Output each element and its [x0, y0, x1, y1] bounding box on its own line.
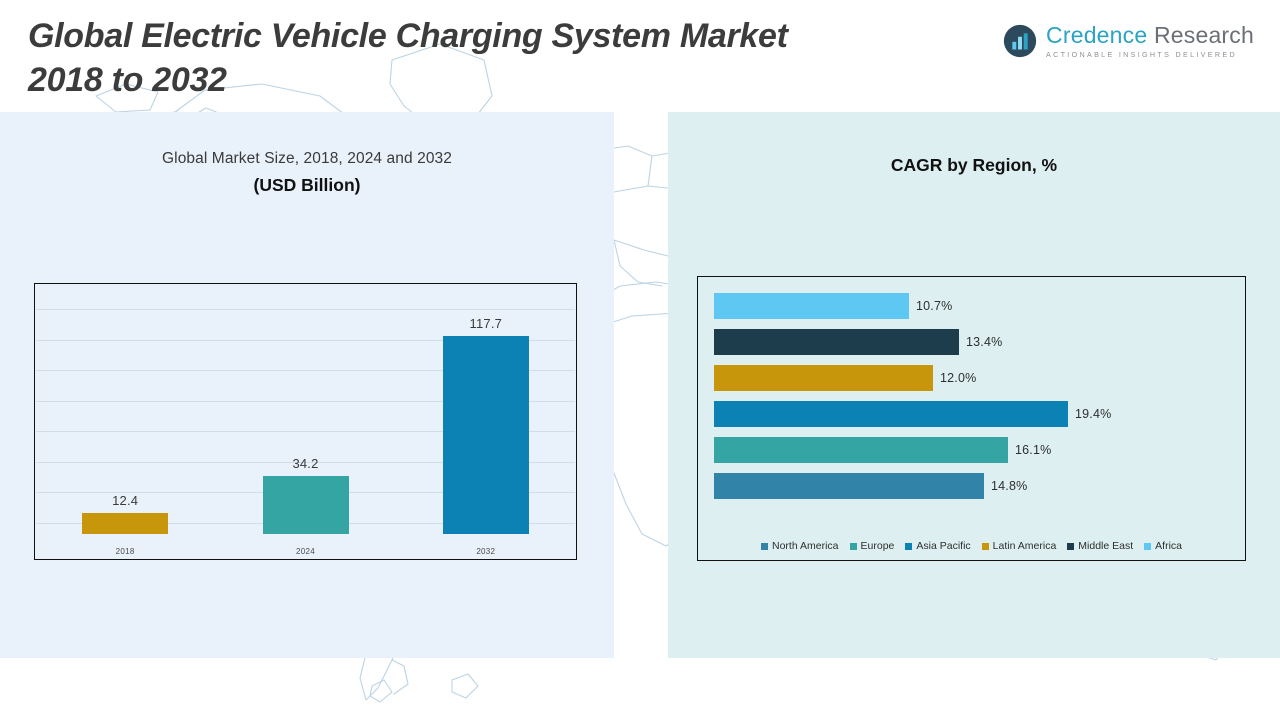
- legend-label: Latin America: [993, 540, 1057, 552]
- column-category-label: 2032: [396, 547, 576, 556]
- hbar: [714, 401, 1068, 427]
- hbar-row: 14.8%: [714, 473, 1027, 499]
- bar-chart-circle-icon: [1003, 24, 1037, 58]
- legend-label: Africa: [1155, 540, 1182, 552]
- column-category-label: 2018: [35, 547, 215, 556]
- legend-swatch-icon: [850, 543, 857, 550]
- hbar-value-label: 19.4%: [1075, 407, 1111, 421]
- legend-item[interactable]: Europe: [850, 540, 895, 552]
- legend-label: North America: [772, 540, 839, 552]
- logo-name: Credence Research: [1046, 24, 1254, 47]
- cagr-by-region-chart: 10.7%13.4%12.0%19.4%16.1%14.8% North Ame…: [697, 276, 1246, 561]
- legend-swatch-icon: [1067, 543, 1074, 550]
- logo-tagline: Actionable Insights Delivered: [1046, 51, 1254, 58]
- hbar: [714, 293, 909, 319]
- brand-logo[interactable]: Credence Research Actionable Insights De…: [1003, 24, 1254, 58]
- column-bar: [443, 336, 529, 534]
- legend-swatch-icon: [905, 543, 912, 550]
- page-title: Global Electric Vehicle Charging System …: [28, 14, 1028, 102]
- hbar-row: 19.4%: [714, 401, 1111, 427]
- hbar-row: 12.0%: [714, 365, 976, 391]
- legend-label: Europe: [861, 540, 895, 552]
- logo-name-research: Research: [1154, 22, 1254, 48]
- column-value-label: 34.2: [292, 456, 318, 471]
- legend-item[interactable]: Asia Pacific: [905, 540, 970, 552]
- hbar-value-label: 10.7%: [916, 299, 952, 313]
- legend-swatch-icon: [1144, 543, 1151, 550]
- hbar-value-label: 14.8%: [991, 479, 1027, 493]
- left-chart-subtitle: (USD Billion): [0, 175, 614, 196]
- hbar: [714, 329, 959, 355]
- infographic-root: Global Electric Vehicle Charging System …: [0, 0, 1280, 720]
- column-category-label: 2024: [215, 547, 395, 556]
- legend-item[interactable]: Middle East: [1067, 540, 1133, 552]
- column-bar: [82, 513, 168, 534]
- logo-name-credence: Credence: [1046, 22, 1147, 48]
- hbar-row: 13.4%: [714, 329, 1002, 355]
- legend-label: Middle East: [1078, 540, 1133, 552]
- hbar: [714, 365, 933, 391]
- right-chart-heading: CAGR by Region, %: [668, 155, 1280, 176]
- hbar: [714, 437, 1008, 463]
- legend-label: Asia Pacific: [916, 540, 970, 552]
- header: Global Electric Vehicle Charging System …: [0, 0, 1280, 112]
- logo-text: Credence Research Actionable Insights De…: [1046, 24, 1254, 58]
- hbar-row: 10.7%: [714, 293, 952, 319]
- legend-swatch-icon: [761, 543, 768, 550]
- column-group: 12.4: [82, 493, 168, 534]
- chart-legend: North AmericaEuropeAsia PacificLatin Ame…: [698, 540, 1245, 552]
- left-chart-title: Global Market Size, 2018, 2024 and 2032: [0, 150, 614, 168]
- column-group: 34.2: [263, 456, 349, 534]
- hbar: [714, 473, 984, 499]
- column-series: 12.4201834.22024117.72032: [35, 284, 576, 559]
- column-group: 117.7: [443, 316, 529, 534]
- legend-item[interactable]: Latin America: [982, 540, 1057, 552]
- legend-swatch-icon: [982, 543, 989, 550]
- column-value-label: 117.7: [470, 316, 503, 331]
- legend-item[interactable]: North America: [761, 540, 839, 552]
- hbar-value-label: 13.4%: [966, 335, 1002, 349]
- hbar-row: 16.1%: [714, 437, 1051, 463]
- global-market-size-chart: 12.4201834.22024117.72032: [34, 283, 577, 560]
- column-bar: [263, 476, 349, 534]
- column-value-label: 12.4: [112, 493, 138, 508]
- legend-item[interactable]: Africa: [1144, 540, 1182, 552]
- hbar-value-label: 12.0%: [940, 371, 976, 385]
- left-chart-heading: Global Market Size, 2018, 2024 and 2032 …: [0, 150, 614, 196]
- hbar-value-label: 16.1%: [1015, 443, 1051, 457]
